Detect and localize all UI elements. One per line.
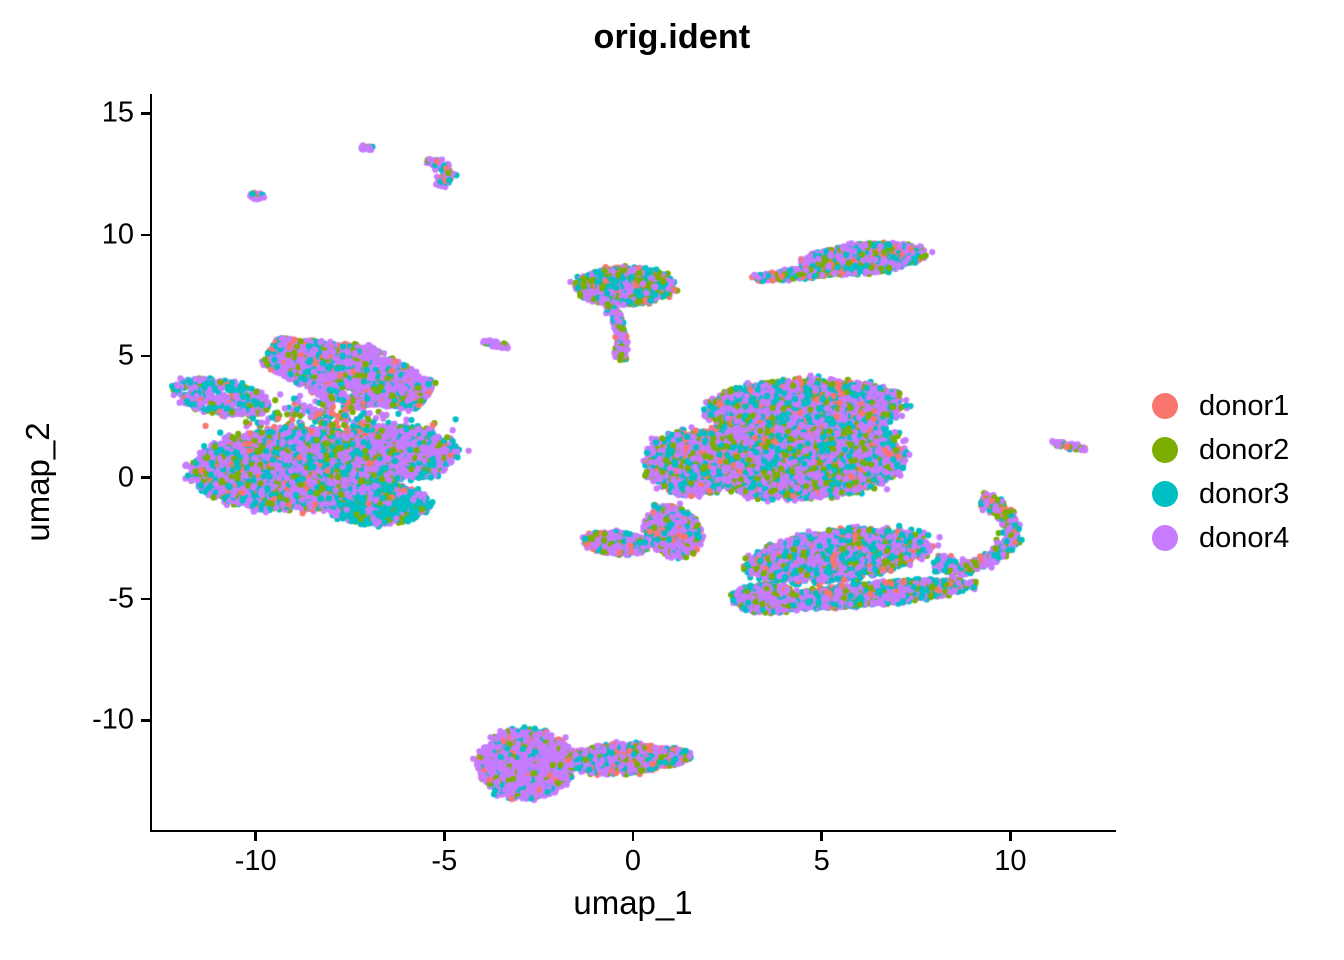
legend-swatch-icon [1152, 393, 1178, 419]
legend: donor1donor2donor3donor4 [1152, 384, 1342, 560]
legend-item-donor1[interactable]: donor1 [1152, 384, 1342, 428]
y-tick-label: -5 [108, 582, 134, 615]
y-tick-mark [141, 476, 150, 479]
legend-swatch-icon [1152, 437, 1178, 463]
legend-item-donor2[interactable]: donor2 [1152, 428, 1342, 472]
page-title: orig.ident [0, 18, 1344, 57]
y-tick-mark [141, 112, 150, 115]
legend-label: donor3 [1199, 480, 1289, 509]
x-tick-mark [632, 832, 635, 841]
y-tick-label: -10 [92, 704, 134, 737]
y-tick-label: 0 [118, 461, 134, 494]
x-tick-mark [820, 832, 823, 841]
x-axis-label: umap_1 [150, 884, 1116, 922]
x-tick-label: 0 [625, 845, 641, 878]
scatter-canvas [152, 94, 1118, 832]
y-axis-label: umap_2 [19, 322, 57, 642]
y-tick-label: 15 [102, 97, 134, 130]
umap-scatter-plot: orig.ident -10-5051015 -10-50510 umap_1 … [0, 0, 1344, 960]
x-tick-label: -5 [431, 845, 457, 878]
x-tick-mark [443, 832, 446, 841]
x-tick-label: 10 [994, 845, 1026, 878]
x-tick-mark [1009, 832, 1012, 841]
y-tick-mark [141, 355, 150, 358]
legend-swatch-icon [1152, 525, 1178, 551]
legend-item-donor4[interactable]: donor4 [1152, 516, 1342, 560]
y-tick-label: 10 [102, 218, 134, 251]
x-tick-label: 5 [814, 845, 830, 878]
legend-label: donor4 [1199, 524, 1289, 553]
y-tick-mark [141, 719, 150, 722]
legend-swatch-icon [1152, 481, 1178, 507]
plot-panel [150, 94, 1116, 832]
x-tick-label: -10 [235, 845, 277, 878]
legend-label: donor1 [1199, 392, 1289, 421]
y-tick-label: 5 [118, 340, 134, 373]
x-tick-mark [254, 832, 257, 841]
y-tick-mark [141, 234, 150, 237]
legend-label: donor2 [1199, 436, 1289, 465]
legend-item-donor3[interactable]: donor3 [1152, 472, 1342, 516]
y-tick-mark [141, 598, 150, 601]
